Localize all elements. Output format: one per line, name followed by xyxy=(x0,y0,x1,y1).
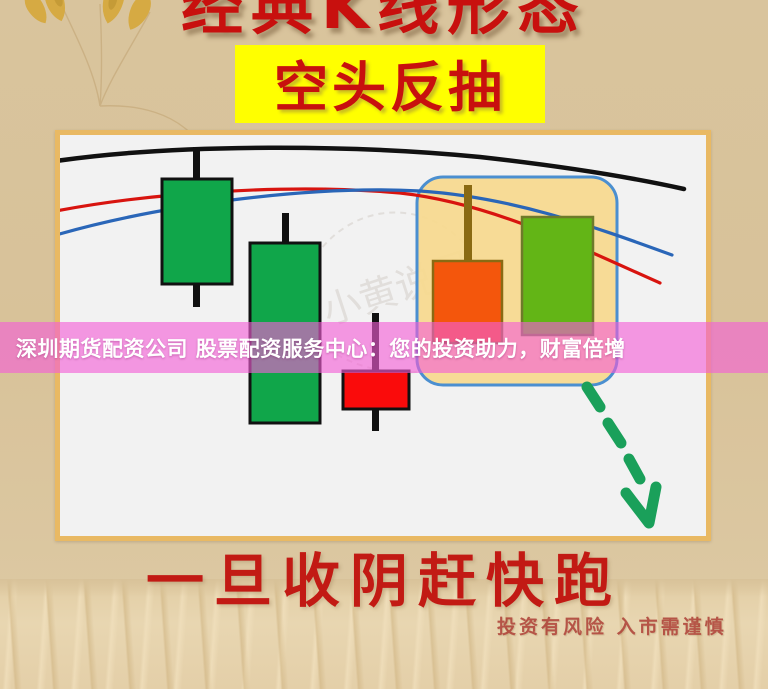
poster-headline: 经典K线形态 xyxy=(0,0,768,42)
promo-banner: 深圳期货配资公司 股票配资服务中心：您的投资助力，财富倍增 xyxy=(0,322,768,373)
subtitle-text: 空头反抽 xyxy=(274,43,506,122)
footer-slogan: 一旦收阴赶快跑 xyxy=(0,534,768,618)
arrow-head-icon xyxy=(626,487,656,523)
subtitle-highlight-box: 空头反抽 xyxy=(235,45,545,123)
poster-root: 经典K线形态 空头反抽 小黄说图 xyxy=(0,0,768,689)
bullish-candle-1 xyxy=(162,147,232,307)
bullish-candle-2 xyxy=(250,213,320,423)
down-arrow-icon xyxy=(587,387,640,479)
bullish-candle-5 xyxy=(522,217,593,335)
risk-disclaimer-note: 投资有风险 入市需谨慎 xyxy=(497,612,727,639)
promo-banner-text: 深圳期货配资公司 股票配资服务中心：您的投资助力，财富倍增 xyxy=(0,333,626,363)
